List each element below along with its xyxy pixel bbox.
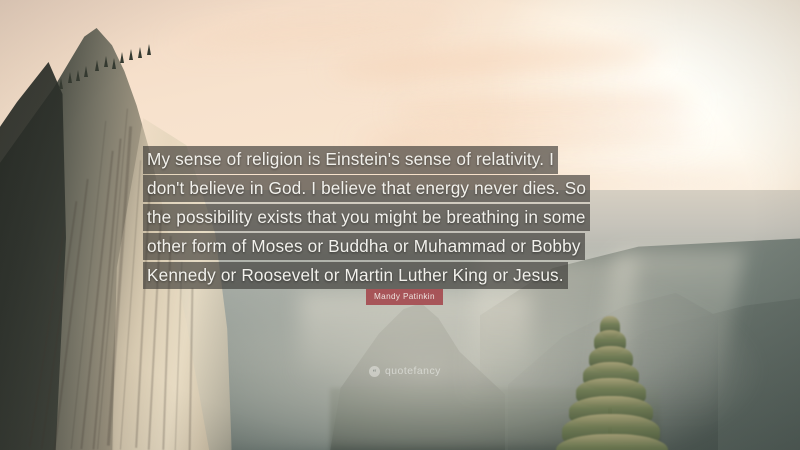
ridge-tree-icon (68, 72, 72, 83)
quote-text-block: My sense of religion is Einstein's sense… (143, 146, 667, 290)
ridge-tree-icon (76, 70, 80, 81)
quote-mark-icon: “ (369, 366, 380, 377)
author-badge[interactable]: Mandy Patinkin (366, 289, 443, 305)
ridge-tree-icon (104, 56, 108, 67)
ridge-tree-icon (120, 52, 124, 63)
ridge-tree-icon (129, 49, 133, 60)
quotefancy-watermark[interactable]: “ quotefancy (369, 366, 441, 377)
watermark-brand-label: quotefancy (385, 366, 441, 377)
ridge-tree-icon (147, 44, 151, 55)
ridge-tree-icon (59, 78, 63, 89)
ridge-tree-icon (112, 58, 116, 69)
quote-line: My sense of religion is Einstein's sense… (143, 146, 558, 174)
ridge-tree-icon (138, 47, 142, 58)
quote-line: Kennedy or Roosevelt or Martin Luther Ki… (143, 262, 568, 290)
ridge-tree-icon (84, 66, 88, 77)
ridge-tree-icon (95, 60, 99, 71)
quote-wallpaper: My sense of religion is Einstein's sense… (0, 0, 800, 450)
quote-line: other form of Moses or Buddha or Muhamma… (143, 233, 585, 261)
quote-line: don't believe in God. I believe that ene… (143, 175, 590, 203)
quote-line: the possibility exists that you might be… (143, 204, 590, 232)
foreground-pine-tree (556, 316, 668, 450)
